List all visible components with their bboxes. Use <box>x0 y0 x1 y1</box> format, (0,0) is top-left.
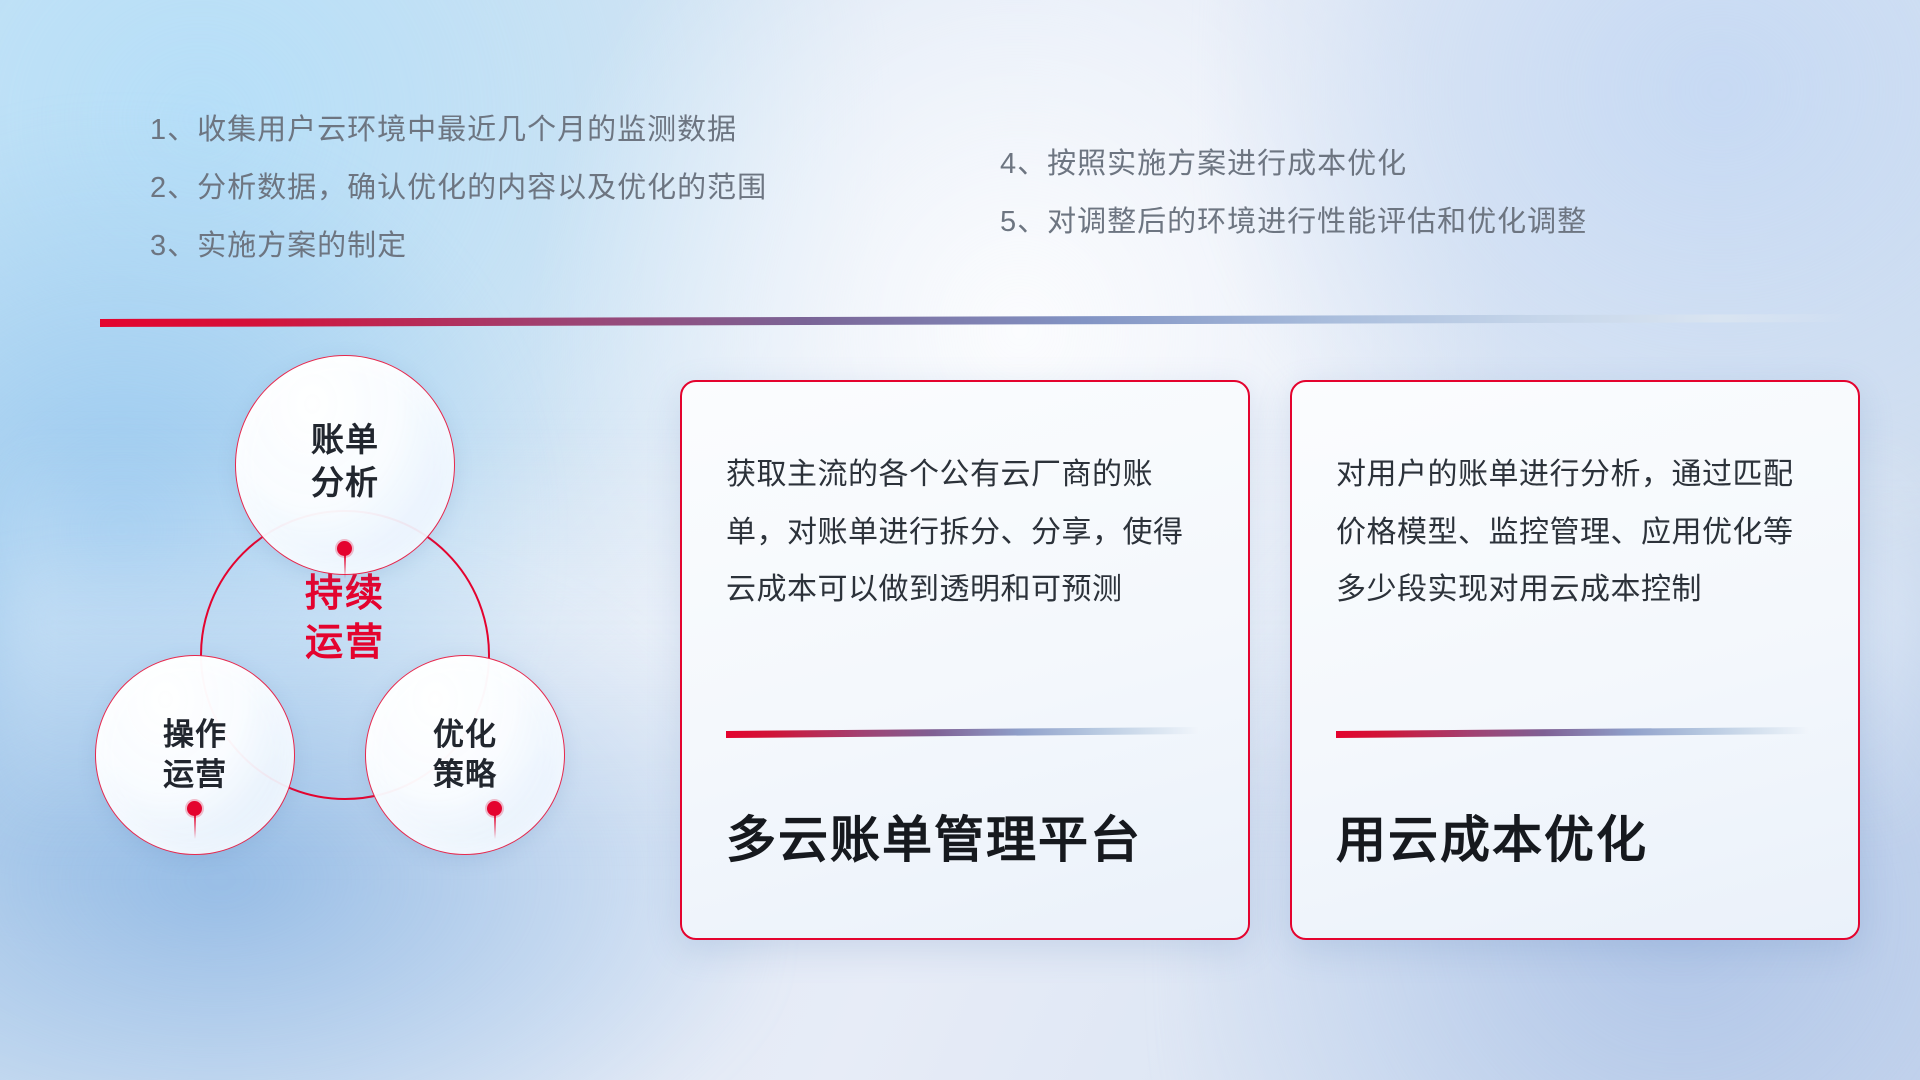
feature-card-cloud-cost-optimization[interactable]: 对用户的账单进行分析，通过匹配价格模型、监控管理、应用优化等多少段实现对用云成本… <box>1290 380 1860 940</box>
feature-card-multicloud-billing-rule-bar <box>726 727 1198 738</box>
venn-node-dot-top <box>337 541 352 556</box>
venn-bubble-operations-label: 操作 运营 <box>163 715 227 796</box>
venn-bubble-optimization-strategy[interactable]: 优化 策略 <box>365 655 565 855</box>
process-steps-list: 1、收集用户云环境中最近几个月的监测数据 2、分析数据，确认优化的内容以及优化的… <box>0 0 1920 300</box>
continuous-operations-venn-diagram: 持续 运营 账单 分析 操作 运营 优化 策略 <box>95 355 565 935</box>
process-step-2: 2、分析数据，确认优化的内容以及优化的范围 <box>150 174 767 203</box>
process-steps-right-column: 4、按照实施方案进行成本优化 5、对调整后的环境进行性能评估和优化调整 <box>1000 150 1587 266</box>
feature-card-multicloud-billing-rule <box>726 727 1198 738</box>
venn-bubble-optimization-strategy-line-2: 策略 <box>433 755 497 795</box>
venn-node-tail-bottom-left <box>194 813 196 839</box>
process-step-3: 3、实施方案的制定 <box>150 232 767 261</box>
section-divider <box>100 314 1858 327</box>
feature-card-cloud-cost-optimization-rule-bar <box>1336 727 1808 738</box>
venn-bubble-operations-line-2: 运营 <box>163 755 227 795</box>
section-divider-bar <box>100 314 1858 327</box>
feature-card-cloud-cost-optimization-body: 对用户的账单进行分析，通过匹配价格模型、监控管理、应用优化等多少段实现对用云成本… <box>1336 428 1814 619</box>
venn-center-label: 持续 运营 <box>200 570 490 669</box>
process-step-4: 4、按照实施方案进行成本优化 <box>1000 150 1587 179</box>
feature-card-cloud-cost-optimization-rule <box>1336 727 1808 738</box>
venn-bubble-operations-line-1: 操作 <box>163 715 227 755</box>
process-step-5: 5、对调整后的环境进行性能评估和优化调整 <box>1000 208 1587 237</box>
feature-card-multicloud-billing-body: 获取主流的各个公有云厂商的账单，对账单进行拆分、分享，使得云成本可以做到透明和可… <box>726 428 1204 619</box>
feature-card-cloud-cost-optimization-title: 用云成本优化 <box>1336 738 1814 938</box>
feature-card-multicloud-billing[interactable]: 获取主流的各个公有云厂商的账单，对账单进行拆分、分享，使得云成本可以做到透明和可… <box>680 380 1250 940</box>
process-step-1: 1、收集用户云环境中最近几个月的监测数据 <box>150 116 767 145</box>
venn-bubble-bill-analysis-label: 账单 分析 <box>311 419 379 505</box>
venn-bubble-bill-analysis-line-1: 账单 <box>311 419 379 462</box>
venn-bubble-optimization-strategy-line-1: 优化 <box>433 715 497 755</box>
venn-node-tail-top <box>344 553 346 579</box>
venn-node-tail-bottom-right <box>494 813 496 839</box>
venn-bubble-bill-analysis-line-2: 分析 <box>311 462 379 505</box>
venn-node-dot-bottom-left <box>187 801 202 816</box>
venn-node-dot-bottom-right <box>487 801 502 816</box>
process-steps-left-column: 1、收集用户云环境中最近几个月的监测数据 2、分析数据，确认优化的内容以及优化的… <box>150 116 767 290</box>
venn-bubble-optimization-strategy-label: 优化 策略 <box>433 715 497 796</box>
feature-card-multicloud-billing-title: 多云账单管理平台 <box>726 738 1204 938</box>
